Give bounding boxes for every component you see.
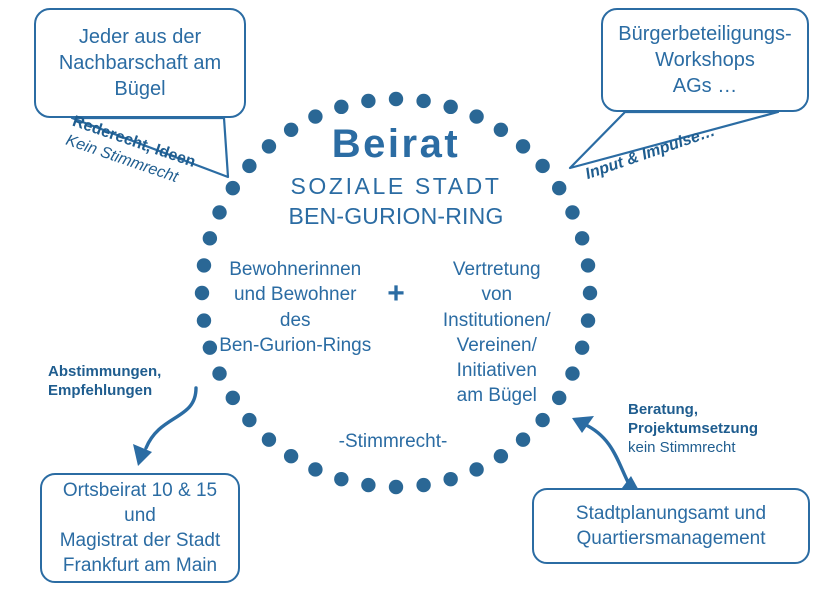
voting-rights-note: -Stimmrecht- (339, 431, 448, 453)
box-ortsbeirat-line-2: und (124, 503, 156, 528)
subtitle-ben-gurion-ring: BEN-GURION-RING (288, 205, 503, 228)
column-institutions-line-6: am Bügel (411, 383, 583, 408)
annotation-beratung-line-3: kein Stimmrecht (628, 438, 758, 457)
bubble-workshops: Bürgerbeteiligungs- Workshops AGs … (601, 8, 809, 112)
bubble-workshops-line-3: AGs … (673, 73, 737, 99)
box-stadtplanungsamt-line-1: Stadtplanungsamt und (576, 501, 766, 526)
subtitle-soziale-stadt: SOZIALE STADT (290, 175, 501, 198)
bubble-neighbourhood-line-3: Bügel (114, 76, 165, 102)
column-residents: Bewohnerinnen und Bewohner des Ben-Gurio… (209, 257, 381, 358)
column-residents-line-3: des (209, 308, 381, 333)
box-stadtplanungsamt: Stadtplanungsamt und Quartiersmanagement (532, 488, 810, 564)
bubble-neighbourhood-line-1: Jeder aus der (79, 24, 201, 50)
annotation-input-impulse: Input & Impulse… (583, 122, 718, 186)
box-ortsbeirat-line-1: Ortsbeirat 10 & 15 (63, 478, 217, 503)
plus-icon: + (381, 257, 411, 309)
annotation-beratung-line-1: Beratung, (628, 400, 758, 419)
column-institutions: Vertretung von Institutionen/ Vereinen/ … (411, 257, 583, 409)
bubble-workshops-line-1: Bürgerbeteiligungs- (618, 21, 791, 47)
column-institutions-line-5: Initiativen (411, 358, 583, 383)
annotation-rederecht: Rederecht, Ideen Kein Stimmrecht (63, 112, 198, 193)
annotation-beratung-line-2: Projektumsetzung (628, 419, 758, 438)
column-residents-line-4: Ben-Gurion-Rings (209, 333, 381, 358)
column-residents-line-2: und Bewohner (209, 282, 381, 307)
column-residents-line-1: Bewohnerinnen (209, 257, 381, 282)
bubble-neighbourhood: Jeder aus der Nachbarschaft am Bügel (34, 8, 246, 118)
annotation-beratung: Beratung, Projektumsetzung kein Stimmrec… (628, 400, 758, 458)
column-institutions-line-2: von (411, 282, 583, 307)
column-institutions-line-4: Vereinen/ (411, 333, 583, 358)
diagram-canvas: Beirat SOZIALE STADT BEN-GURION-RING Bew… (0, 0, 820, 600)
page-title: Beirat (332, 124, 460, 164)
membership-columns: Bewohnerinnen und Bewohner des Ben-Gurio… (196, 257, 596, 409)
column-institutions-line-3: Institutionen/ (411, 308, 583, 333)
box-stadtplanungsamt-line-2: Quartiersmanagement (576, 526, 765, 551)
ring-center-content: Beirat SOZIALE STADT BEN-GURION-RING Bew… (196, 100, 596, 490)
bubble-workshops-line-2: Workshops (655, 47, 755, 73)
box-ortsbeirat-line-4: Frankfurt am Main (63, 553, 217, 578)
bubble-neighbourhood-line-2: Nachbarschaft am (59, 50, 221, 76)
column-institutions-line-1: Vertretung (411, 257, 583, 282)
annotation-abstimmungen-line-2: Empfehlungen (48, 381, 161, 400)
annotation-abstimmungen-line-1: Abstimmungen, (48, 362, 161, 381)
box-ortsbeirat: Ortsbeirat 10 & 15 und Magistrat der Sta… (40, 473, 240, 583)
annotation-abstimmungen: Abstimmungen, Empfehlungen (48, 362, 161, 400)
box-ortsbeirat-line-3: Magistrat der Stadt (60, 528, 221, 553)
arrowhead-abstimmungen (133, 444, 152, 466)
